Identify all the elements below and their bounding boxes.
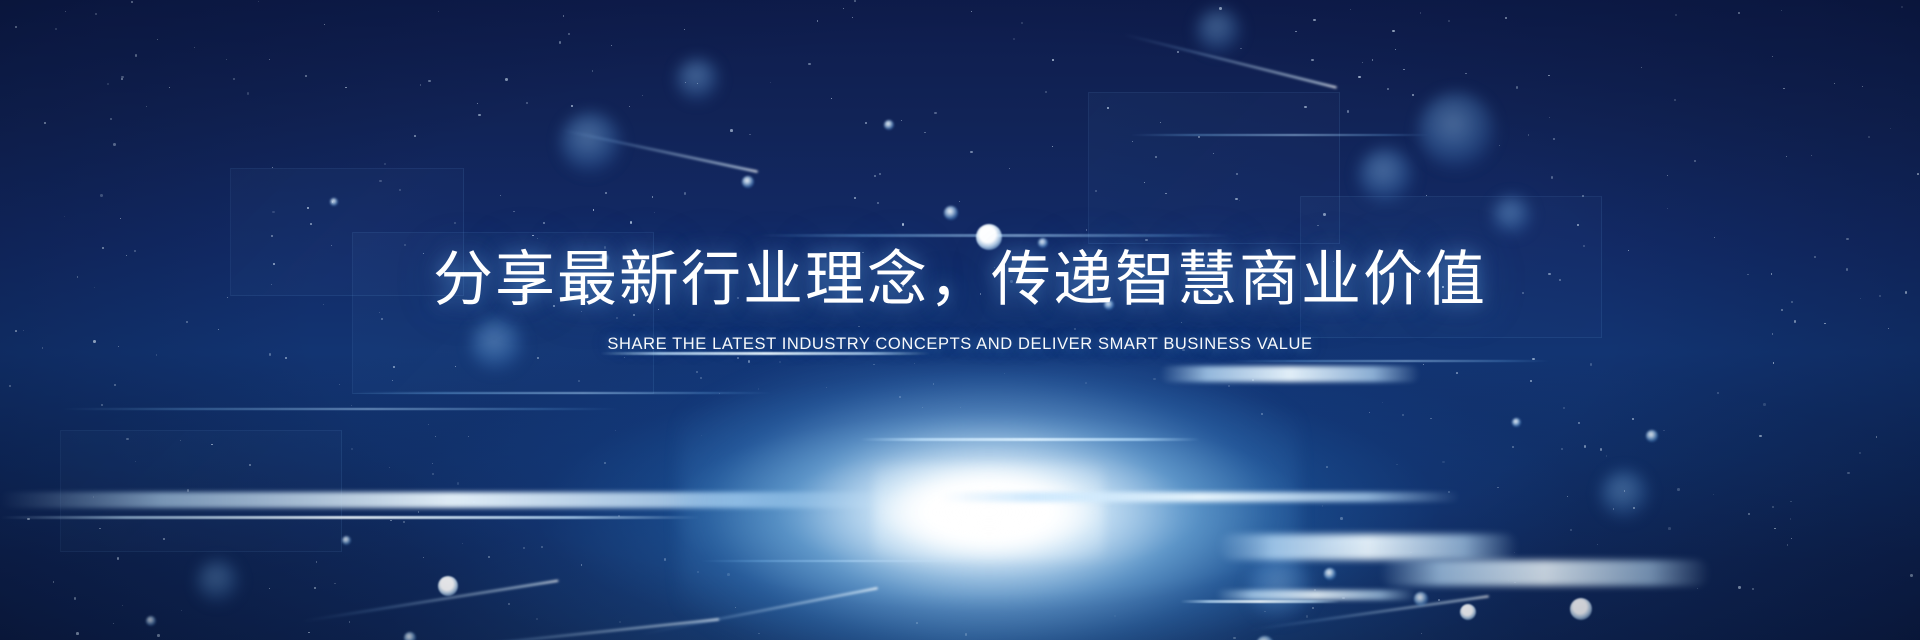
center-glow-core	[874, 464, 1104, 560]
star-particle	[1759, 435, 1761, 437]
light-orb	[1512, 418, 1521, 427]
star-particle	[428, 80, 431, 83]
star-particle	[543, 222, 545, 224]
star-particle	[1085, 382, 1087, 384]
star-particle	[1045, 91, 1048, 94]
star-particle	[334, 583, 335, 584]
star-particle	[473, 501, 475, 503]
star-particle	[1314, 589, 1316, 591]
bokeh-orb	[196, 560, 240, 604]
star-particle	[53, 581, 54, 582]
star-particle	[1862, 86, 1863, 87]
star-particle	[65, 11, 66, 12]
star-particle	[1213, 153, 1214, 154]
star-particle	[696, 371, 698, 373]
star-particle	[1228, 385, 1230, 387]
star-particle	[435, 436, 436, 437]
star-particle	[959, 201, 960, 202]
star-particle	[418, 511, 420, 513]
star-particle	[181, 610, 182, 611]
star-particle	[379, 180, 382, 183]
star-particle	[76, 632, 79, 635]
comet-streak	[421, 618, 720, 640]
star-particle	[462, 543, 463, 544]
star-particle	[1107, 107, 1109, 109]
star-particle	[1132, 141, 1133, 142]
star-particle	[899, 396, 901, 398]
light-streak	[860, 438, 1200, 441]
star-particle	[1430, 418, 1431, 419]
light-orb	[884, 120, 894, 130]
star-particle	[581, 564, 582, 565]
star-particle	[971, 11, 972, 12]
star-particle	[1340, 517, 1343, 520]
star-particle	[146, 106, 147, 107]
star-particle	[701, 435, 702, 436]
star-particle	[1787, 544, 1788, 545]
star-particle	[1420, 12, 1422, 14]
star-particle	[285, 357, 287, 359]
star-particle	[351, 448, 353, 450]
bg-panel	[1088, 92, 1340, 244]
star-particle	[1512, 446, 1514, 448]
page-subtitle: SHARE THE LATEST INDUSTRY CONCEPTS AND D…	[0, 335, 1920, 354]
star-particle	[1304, 106, 1306, 108]
star-particle	[843, 8, 845, 10]
star-particle	[194, 47, 195, 48]
star-particle	[879, 173, 881, 175]
star-particle	[117, 557, 119, 559]
star-particle	[1153, 378, 1156, 381]
star-particle	[1790, 518, 1792, 520]
star-particle	[1713, 494, 1714, 495]
star-particle	[1714, 237, 1715, 238]
star-particle	[1358, 76, 1361, 79]
star-particle	[1786, 156, 1787, 157]
star-particle	[157, 39, 158, 40]
star-particle	[114, 384, 116, 386]
light-streak	[1130, 134, 1430, 136]
star-particle	[1219, 7, 1222, 10]
star-particle	[737, 357, 739, 359]
star-particle	[428, 424, 429, 425]
star-particle	[1748, 513, 1751, 516]
star-particle	[605, 192, 607, 194]
star-particle	[272, 167, 273, 168]
star-particle	[432, 473, 434, 475]
page-title: 分享最新行业理念，传递智慧商业价值	[0, 248, 1920, 313]
star-particle	[1233, 637, 1236, 640]
star-particle	[1313, 19, 1316, 22]
star-particle	[1369, 412, 1370, 413]
star-particle	[513, 211, 514, 212]
star-particle	[1773, 362, 1775, 364]
star-particle	[99, 528, 101, 530]
star-particle	[1910, 574, 1913, 577]
star-particle	[1532, 358, 1535, 361]
star-particle	[95, 13, 98, 16]
star-particle	[1597, 544, 1598, 545]
star-particle	[180, 440, 181, 441]
light-orb	[330, 198, 338, 206]
light-bar	[1160, 366, 1420, 382]
star-particle	[505, 78, 508, 81]
star-particle	[100, 194, 103, 197]
star-particle	[310, 223, 312, 225]
star-particle	[169, 87, 170, 88]
star-particle	[537, 238, 538, 239]
star-particle	[852, 17, 853, 18]
star-particle	[1667, 208, 1668, 209]
star-particle	[1448, 491, 1450, 493]
star-particle	[93, 496, 95, 498]
comet-streak	[642, 587, 878, 635]
star-particle	[122, 605, 123, 606]
star-particle	[593, 209, 595, 211]
star-particle	[684, 192, 687, 195]
star-particle	[107, 83, 109, 85]
light-streak	[760, 234, 1230, 237]
star-particle	[1264, 611, 1266, 613]
star-particle	[1240, 48, 1242, 50]
star-particle	[1252, 379, 1254, 381]
star-particle	[1497, 487, 1498, 488]
star-particle	[110, 118, 112, 120]
star-particle	[652, 196, 654, 198]
star-particle	[664, 558, 667, 561]
light-orb	[1570, 598, 1592, 620]
star-particle	[1145, 239, 1148, 242]
star-particle	[1772, 506, 1774, 508]
star-particle	[272, 211, 275, 214]
star-particle	[1667, 175, 1668, 176]
star-particle	[163, 538, 165, 540]
star-particle	[960, 407, 961, 408]
bokeh-orb	[1492, 196, 1532, 236]
light-orb	[1256, 636, 1274, 640]
star-particle	[438, 11, 439, 12]
star-particle	[389, 467, 390, 468]
star-particle	[1516, 86, 1519, 89]
star-particle	[902, 223, 905, 226]
comet-streak	[562, 129, 758, 173]
star-particle	[1236, 173, 1238, 175]
star-particle	[477, 103, 478, 104]
star-particle	[9, 385, 11, 387]
bg-panel	[60, 430, 342, 552]
star-particle	[1322, 505, 1324, 507]
star-particle	[924, 132, 926, 134]
star-particle	[874, 175, 876, 177]
star-particle	[1465, 73, 1466, 74]
star-particle	[854, 197, 856, 199]
star-particle	[258, 1, 259, 2]
star-particle	[1600, 448, 1603, 451]
light-orb	[438, 576, 458, 596]
bokeh-orb	[1418, 92, 1496, 170]
star-particle	[758, 388, 759, 389]
star-particle	[404, 244, 406, 246]
star-particle	[624, 357, 625, 358]
star-particle	[15, 26, 17, 28]
star-particle	[1632, 418, 1634, 420]
light-orb	[146, 616, 156, 626]
light-orb	[742, 176, 754, 188]
star-particle	[55, 28, 58, 31]
star-particle	[523, 547, 525, 549]
star-particle	[113, 623, 114, 624]
star-particle	[873, 364, 875, 366]
star-particle	[121, 78, 123, 80]
star-particle	[478, 114, 481, 117]
light-orb	[342, 536, 351, 545]
star-particle	[1423, 364, 1424, 365]
star-particle	[247, 92, 250, 95]
star-particle	[390, 520, 391, 521]
star-particle	[403, 521, 405, 523]
star-particle	[1312, 607, 1314, 609]
star-particle	[1551, 176, 1554, 179]
star-particle	[1583, 245, 1585, 247]
star-particle	[156, 354, 157, 355]
star-particle	[865, 122, 867, 124]
star-particle	[432, 463, 433, 464]
star-particle	[559, 41, 562, 44]
star-particle	[914, 363, 915, 364]
light-bar	[1180, 600, 1340, 603]
star-particle	[44, 122, 47, 125]
star-particle	[735, 607, 736, 608]
star-particle	[1350, 9, 1351, 10]
star-particle	[934, 112, 937, 115]
light-orb	[404, 632, 416, 640]
star-particle	[965, 633, 968, 636]
star-particle	[1917, 173, 1919, 175]
star-particle	[331, 245, 333, 247]
star-particle	[719, 393, 720, 394]
star-particle	[1675, 14, 1678, 17]
star-particle	[384, 163, 386, 165]
star-particle	[770, 82, 771, 83]
star-particle	[1323, 213, 1326, 216]
star-particle	[700, 377, 702, 379]
star-particle	[1442, 461, 1445, 464]
star-particle	[1847, 472, 1849, 474]
star-particle	[339, 384, 340, 385]
star-particle	[1009, 168, 1010, 169]
star-particle	[120, 218, 121, 219]
bokeh-orb	[676, 58, 720, 102]
star-particle	[500, 195, 501, 196]
star-particle	[526, 102, 528, 104]
star-particle	[1402, 414, 1405, 417]
star-particle	[1438, 599, 1440, 601]
star-particle	[211, 444, 212, 445]
star-particle	[1086, 229, 1088, 231]
star-particle	[1606, 455, 1608, 457]
star-particle	[1530, 380, 1532, 382]
star-particle	[399, 189, 401, 191]
light-bar	[1216, 590, 1416, 600]
star-particle	[332, 201, 333, 202]
star-particle	[1052, 146, 1053, 147]
star-particle	[423, 557, 424, 558]
comet-streak	[301, 580, 558, 623]
star-particle	[629, 106, 630, 107]
light-bar	[1218, 534, 1518, 560]
star-particle	[1372, 59, 1374, 61]
star-particle	[1876, 436, 1878, 438]
star-particle	[697, 571, 699, 573]
star-particle	[455, 366, 456, 367]
light-streak	[1230, 360, 1550, 362]
center-glow	[679, 362, 1299, 640]
star-particle	[1004, 373, 1005, 374]
star-particle	[1013, 38, 1015, 40]
star-particle	[1396, 464, 1398, 466]
bokeh-orb	[560, 112, 622, 174]
star-particle	[454, 222, 457, 225]
star-particle	[1295, 31, 1296, 32]
star-particle	[1144, 182, 1145, 183]
star-particle	[314, 587, 316, 589]
star-particle	[1508, 580, 1509, 581]
star-particle	[1578, 422, 1579, 423]
star-particle	[392, 380, 393, 381]
star-particle	[1426, 195, 1427, 196]
star-particle	[697, 83, 698, 84]
star-particle	[1549, 117, 1550, 118]
star-particle	[1095, 190, 1097, 192]
star-particle	[101, 404, 103, 406]
star-particle	[1410, 552, 1411, 553]
star-particle	[27, 518, 30, 521]
star-particle	[1514, 552, 1515, 553]
star-particle	[1582, 195, 1584, 197]
star-particle	[727, 573, 730, 576]
star-particle	[592, 70, 594, 72]
star-particle	[826, 387, 827, 388]
star-particle	[1514, 582, 1516, 584]
star-particle	[135, 54, 137, 56]
star-particle	[1738, 12, 1740, 14]
star-particle	[618, 515, 620, 517]
star-particle	[345, 87, 347, 89]
star-particle	[537, 357, 539, 359]
star-particle	[121, 76, 124, 79]
hero-banner: 分享最新行业理念，传递智慧商业价值 SHARE THE LATEST INDUS…	[0, 0, 1920, 640]
star-particle	[1811, 155, 1812, 156]
star-particle	[1421, 633, 1422, 634]
star-particle	[831, 98, 832, 99]
star-particle	[1641, 67, 1642, 68]
star-particle	[457, 482, 460, 485]
light-bar	[940, 492, 1460, 502]
star-particle	[779, 361, 782, 364]
star-particle	[615, 430, 616, 431]
star-particle	[1382, 402, 1383, 403]
star-particle	[749, 134, 751, 136]
star-particle	[1783, 88, 1784, 89]
star-particle	[316, 561, 317, 562]
star-particle	[226, 59, 227, 60]
star-particle	[233, 78, 235, 80]
star-particle	[1499, 145, 1500, 146]
light-streak	[60, 408, 620, 410]
star-particle	[187, 489, 189, 491]
star-particle	[1155, 156, 1157, 158]
star-particle	[630, 221, 633, 224]
star-particle	[1198, 136, 1200, 138]
bokeh-orb	[1248, 556, 1314, 622]
light-orb	[1460, 604, 1476, 620]
star-particle	[1317, 225, 1319, 227]
star-particle	[508, 603, 510, 605]
star-particle	[611, 45, 612, 46]
star-particle	[730, 129, 733, 132]
star-particle	[1553, 138, 1555, 140]
star-particle	[1347, 110, 1349, 112]
star-particle	[916, 622, 918, 624]
star-particle	[1326, 466, 1328, 468]
star-particle	[1261, 413, 1263, 415]
star-particle	[1456, 372, 1458, 374]
star-particle	[532, 235, 533, 236]
banner-text-block: 分享最新行业理念，传递智慧商业价值 SHARE THE LATEST INDUS…	[0, 248, 1920, 354]
star-particle	[1311, 59, 1314, 62]
star-particle	[1763, 403, 1766, 406]
star-particle	[1306, 615, 1309, 618]
star-particle	[1403, 69, 1405, 71]
star-particle	[1505, 17, 1508, 20]
star-particle	[488, 556, 490, 558]
star-particle	[568, 33, 570, 35]
light-orb	[1414, 592, 1428, 606]
star-particle	[1697, 588, 1698, 589]
star-particle	[1448, 20, 1451, 23]
star-particle	[758, 633, 760, 635]
star-particle	[420, 84, 421, 85]
star-particle	[126, 438, 129, 441]
comet-streak	[1123, 33, 1337, 88]
star-particle	[1674, 99, 1676, 101]
star-particle	[74, 597, 77, 600]
star-particle	[1834, 83, 1835, 84]
star-particle	[563, 15, 565, 17]
star-particle	[157, 634, 160, 637]
star-particle	[1791, 538, 1792, 539]
star-particle	[1738, 586, 1740, 588]
star-particle	[536, 618, 538, 620]
light-streak	[0, 492, 900, 508]
light-bar	[1380, 560, 1710, 586]
star-particle	[1717, 392, 1719, 394]
star-particle	[817, 20, 819, 22]
star-particle	[1387, 88, 1389, 90]
star-particle	[1846, 238, 1849, 241]
star-particle	[349, 621, 350, 622]
star-particle	[854, 0, 856, 2]
star-particle	[604, 462, 606, 464]
star-particle	[305, 75, 308, 78]
star-particle	[1694, 160, 1696, 162]
star-particle	[1590, 363, 1593, 366]
light-orb	[1324, 568, 1336, 580]
star-particle	[1165, 193, 1167, 195]
star-particle	[1114, 615, 1117, 618]
star-particle	[1570, 529, 1572, 531]
star-particle	[571, 105, 573, 107]
